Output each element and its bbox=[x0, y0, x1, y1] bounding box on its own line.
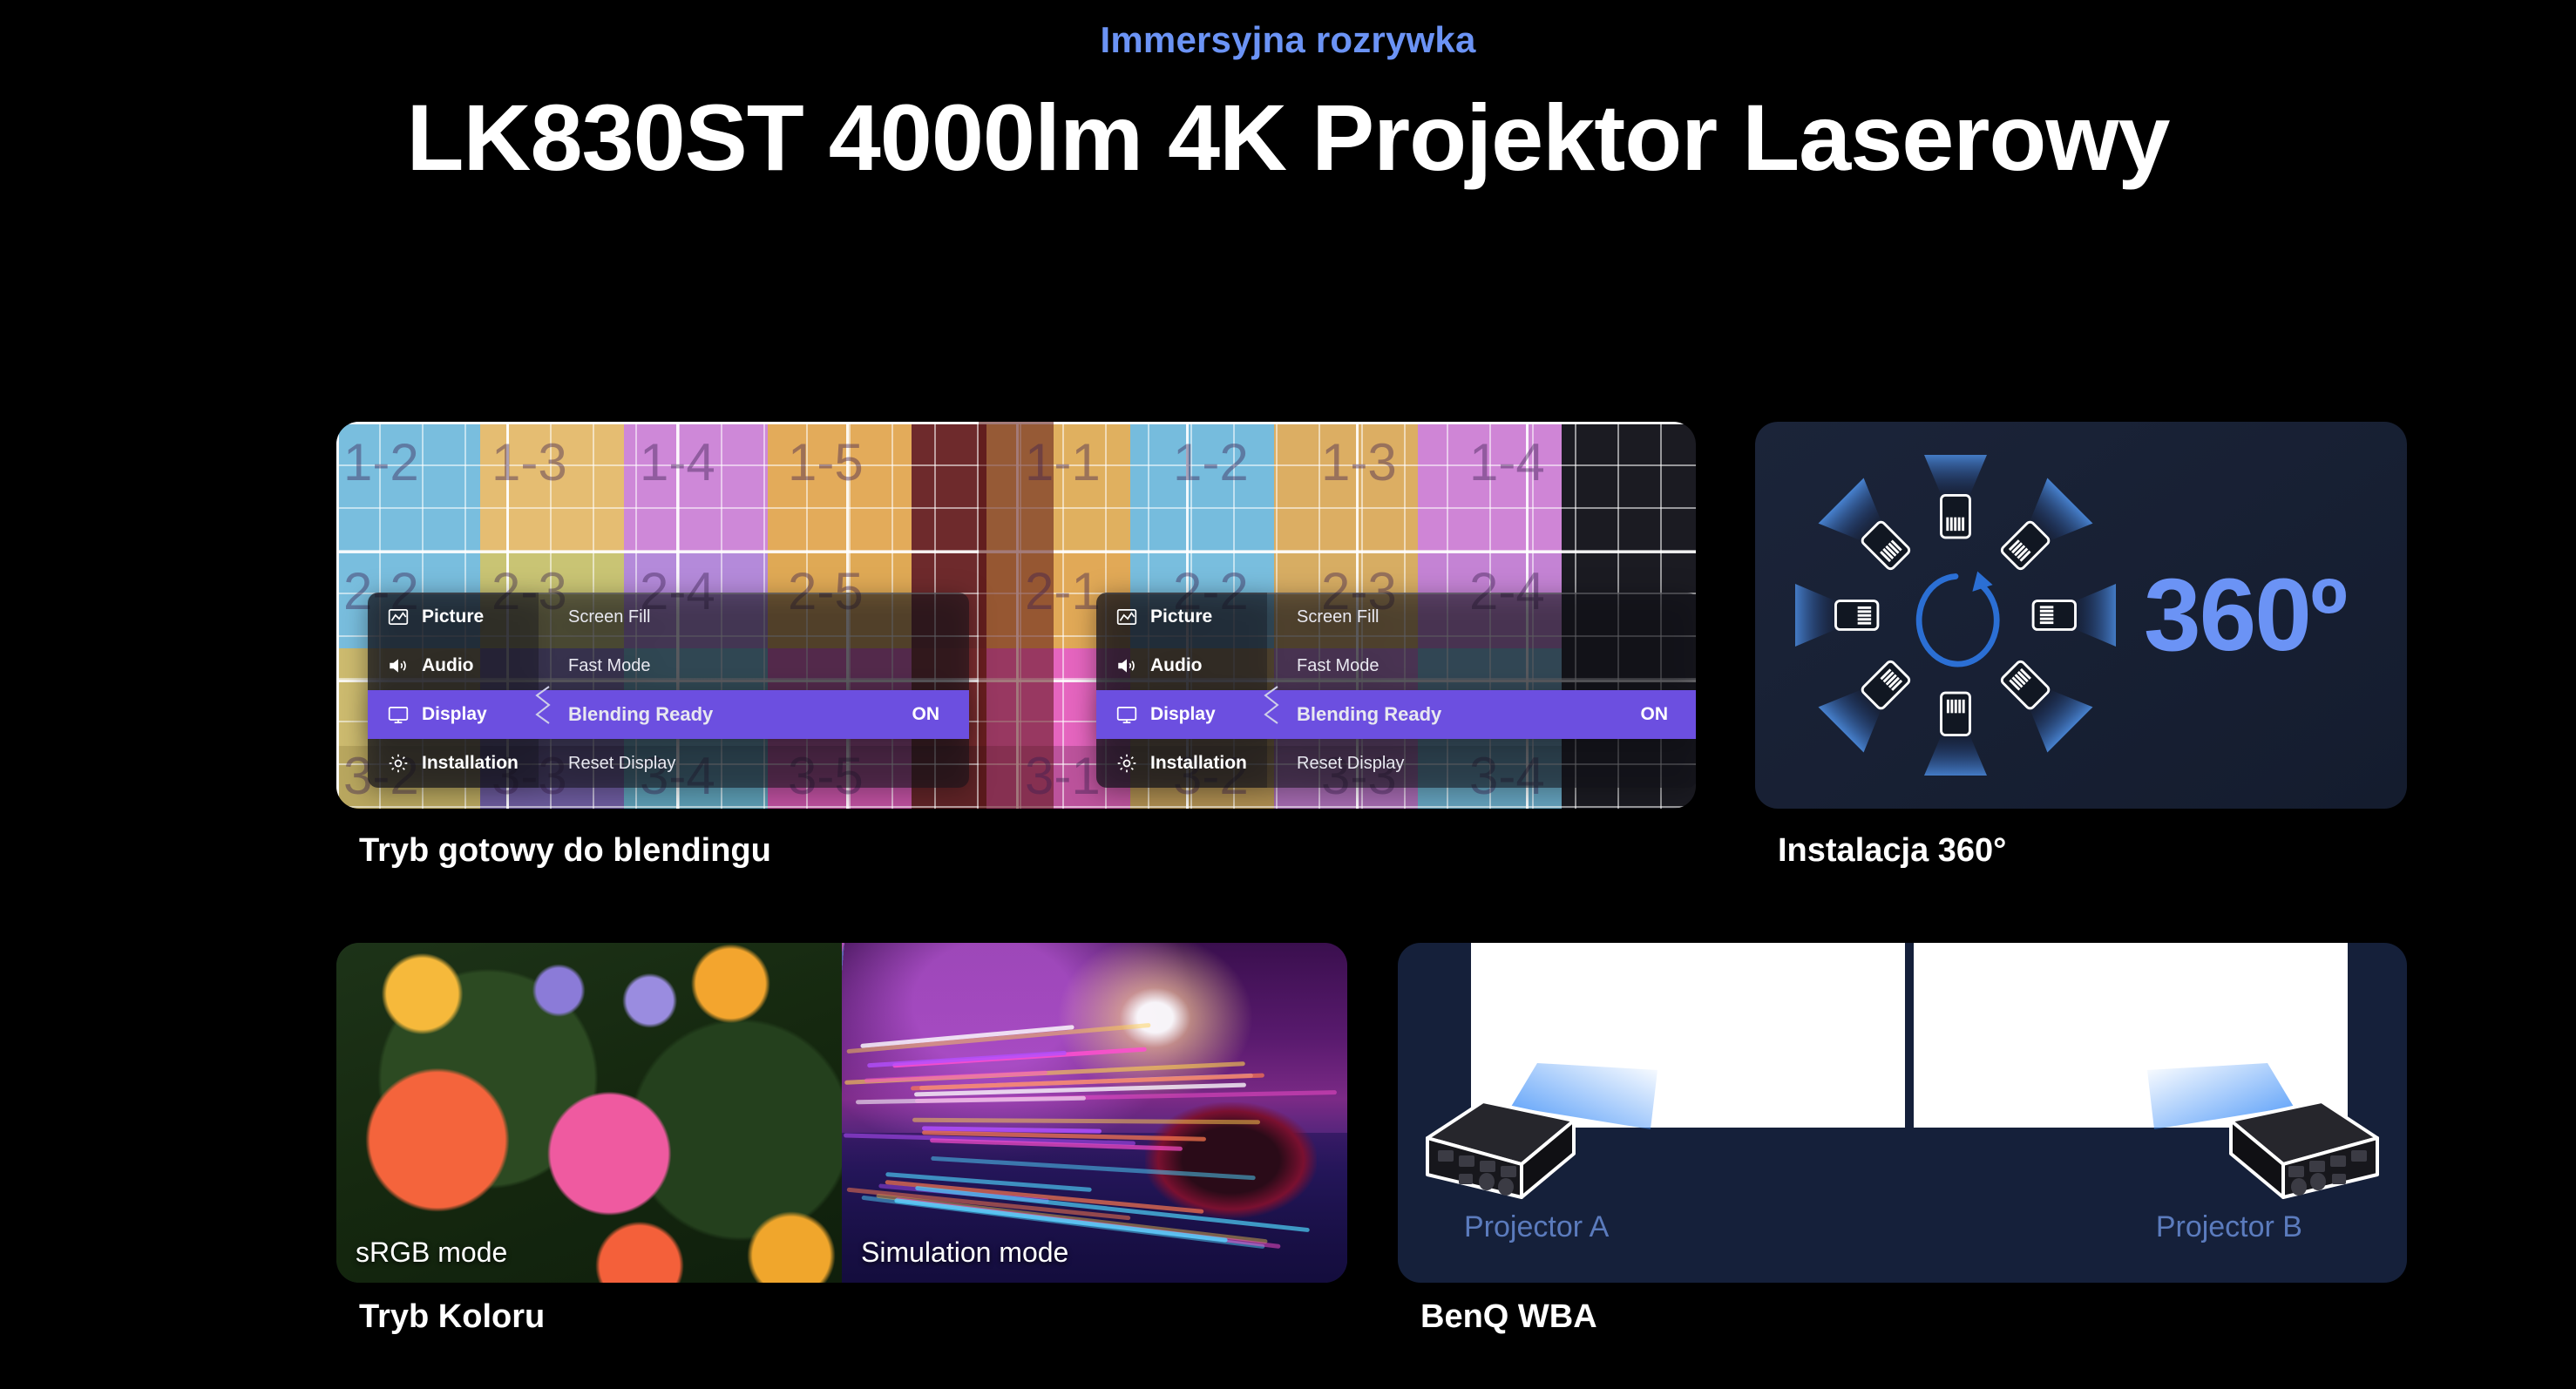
installation-360-caption: Instalacja 360° bbox=[1778, 832, 2006, 870]
osd-menu-left[interactable]: Picture Audio Display bbox=[368, 593, 969, 788]
monitor-icon bbox=[387, 703, 410, 726]
osd-item-audio[interactable]: Audio bbox=[368, 641, 539, 690]
gear-icon bbox=[1115, 752, 1138, 775]
page-eyebrow: Immersyjna rozrywka bbox=[0, 19, 2576, 61]
projector-icon bbox=[1923, 455, 1988, 538]
gear-icon bbox=[387, 752, 410, 775]
projector-icon bbox=[1819, 478, 1924, 584]
simulation-mode-image: Simulation mode bbox=[842, 943, 1347, 1283]
osd-right-column: Screen Fill Fast Mode Blending Ready ON … bbox=[539, 593, 969, 788]
osd-sub-reset-display[interactable]: Reset Display bbox=[1267, 739, 1696, 788]
projector-ring-diagram bbox=[1795, 455, 2116, 776]
osd-connector-icon bbox=[1260, 685, 1279, 725]
osd-sub-blending-ready[interactable]: Blending Ready ON bbox=[1267, 690, 1696, 739]
osd-left-column: Picture Audio Display bbox=[368, 593, 539, 788]
grid-cell bbox=[912, 422, 986, 551]
degrees-label: 360º bbox=[2144, 556, 2346, 674]
flower-photo bbox=[336, 943, 842, 1283]
osd-sub-value: ON bbox=[912, 704, 940, 725]
osd-connector-icon bbox=[532, 685, 551, 725]
osd-item-label: Installation bbox=[422, 753, 519, 774]
grid-cell-label: 1-1 bbox=[1025, 432, 1101, 492]
grid-cell-label: 1-2 bbox=[343, 432, 419, 492]
projector-icon bbox=[2033, 583, 2116, 647]
installation-360-panel: 360º bbox=[1755, 422, 2407, 809]
projector-b-icon bbox=[2212, 1091, 2386, 1204]
osd-sub-value: ON bbox=[1641, 704, 1669, 725]
blending-ready-panel: 1-21-31-41-51-11-21-31-42-22-32-42-52-12… bbox=[336, 422, 1696, 809]
projector-a-icon bbox=[1419, 1091, 1593, 1204]
monitor-icon bbox=[1115, 703, 1138, 726]
srgb-mode-image: sRGB mode bbox=[336, 943, 842, 1283]
circular-arrow-icon bbox=[1919, 572, 1996, 664]
osd-menu-right[interactable]: Picture Audio Display bbox=[1096, 593, 1696, 788]
osd-sub-label: Blending Ready bbox=[568, 703, 713, 726]
grid-cell-label: 1-4 bbox=[640, 432, 715, 492]
speaker-icon bbox=[1115, 654, 1138, 677]
osd-sub-label: Fast Mode bbox=[1297, 656, 1379, 676]
osd-item-installation[interactable]: Installation bbox=[1096, 739, 1267, 788]
grid-cell-label: 1-3 bbox=[491, 432, 567, 492]
projector-b-label: Projector B bbox=[2156, 1210, 2302, 1244]
osd-item-label: Picture bbox=[1150, 606, 1212, 627]
osd-sub-blending-ready[interactable]: Blending Ready ON bbox=[539, 690, 969, 739]
projector-icon bbox=[1923, 693, 1988, 776]
osd-item-installation[interactable]: Installation bbox=[368, 739, 539, 788]
osd-item-label: Audio bbox=[422, 655, 473, 676]
grid-cell-label: 3-1 bbox=[1025, 746, 1101, 806]
osd-item-label: Installation bbox=[1150, 753, 1247, 774]
osd-sub-label: Reset Display bbox=[568, 754, 675, 774]
osd-sub-label: Screen Fill bbox=[1297, 607, 1379, 627]
osd-sub-screen-fill[interactable]: Screen Fill bbox=[539, 593, 969, 641]
projector-icon bbox=[1988, 647, 2093, 753]
osd-item-label: Picture bbox=[422, 606, 484, 627]
osd-sub-screen-fill[interactable]: Screen Fill bbox=[1267, 593, 1696, 641]
color-mode-caption: Tryb Koloru bbox=[359, 1298, 545, 1336]
picture-icon bbox=[1115, 606, 1138, 628]
picture-icon bbox=[387, 606, 410, 628]
osd-sub-fast-mode[interactable]: Fast Mode bbox=[539, 641, 969, 690]
light-streak bbox=[867, 1050, 1067, 1067]
srgb-mode-label: sRGB mode bbox=[356, 1237, 507, 1269]
simulation-mode-label: Simulation mode bbox=[861, 1237, 1068, 1269]
osd-right-column: Screen Fill Fast Mode Blending Ready ON … bbox=[1267, 593, 1696, 788]
osd-item-label: Display bbox=[422, 704, 487, 725]
osd-item-picture[interactable]: Picture bbox=[1096, 593, 1267, 641]
osd-item-picture[interactable]: Picture bbox=[368, 593, 539, 641]
osd-sub-label: Blending Ready bbox=[1297, 703, 1441, 726]
osd-item-audio[interactable]: Audio bbox=[1096, 641, 1267, 690]
projector-icon bbox=[1819, 647, 1924, 753]
osd-item-label: Display bbox=[1150, 704, 1216, 725]
osd-sub-label: Fast Mode bbox=[568, 656, 650, 676]
racing-photo bbox=[842, 943, 1347, 1283]
osd-left-column: Picture Audio Display bbox=[1096, 593, 1267, 788]
grid-cell-label: 1-3 bbox=[1321, 432, 1397, 492]
grid-cell-label: 1-5 bbox=[788, 432, 864, 492]
page-title: LK830ST 4000lm 4K Projektor Laserowy bbox=[0, 83, 2576, 192]
speaker-icon bbox=[387, 654, 410, 677]
grid-cell-label: 1-2 bbox=[1173, 432, 1249, 492]
blending-caption: Tryb gotowy do blendingu bbox=[359, 832, 771, 870]
osd-sub-fast-mode[interactable]: Fast Mode bbox=[1267, 641, 1696, 690]
osd-item-label: Audio bbox=[1150, 655, 1202, 676]
osd-sub-reset-display[interactable]: Reset Display bbox=[539, 739, 969, 788]
color-mode-panel: sRGB mode Simulation mode bbox=[336, 943, 1347, 1283]
osd-sub-label: Screen Fill bbox=[568, 607, 650, 627]
grid-cell-label: 2-1 bbox=[1025, 561, 1101, 621]
osd-item-display[interactable]: Display bbox=[368, 690, 539, 739]
grid-cell-label: 1-4 bbox=[1469, 432, 1545, 492]
projector-icon bbox=[1988, 478, 2093, 584]
product-feature-page: Immersyjna rozrywka LK830ST 4000lm 4K Pr… bbox=[0, 0, 2576, 1389]
projector-icon bbox=[1795, 583, 1878, 647]
projector-a-label: Projector A bbox=[1464, 1210, 1609, 1244]
osd-item-display[interactable]: Display bbox=[1096, 690, 1267, 739]
benq-wba-panel: Projector A Projector B bbox=[1398, 943, 2407, 1283]
wba-caption: BenQ WBA bbox=[1420, 1298, 1597, 1336]
osd-sub-label: Reset Display bbox=[1297, 754, 1404, 774]
